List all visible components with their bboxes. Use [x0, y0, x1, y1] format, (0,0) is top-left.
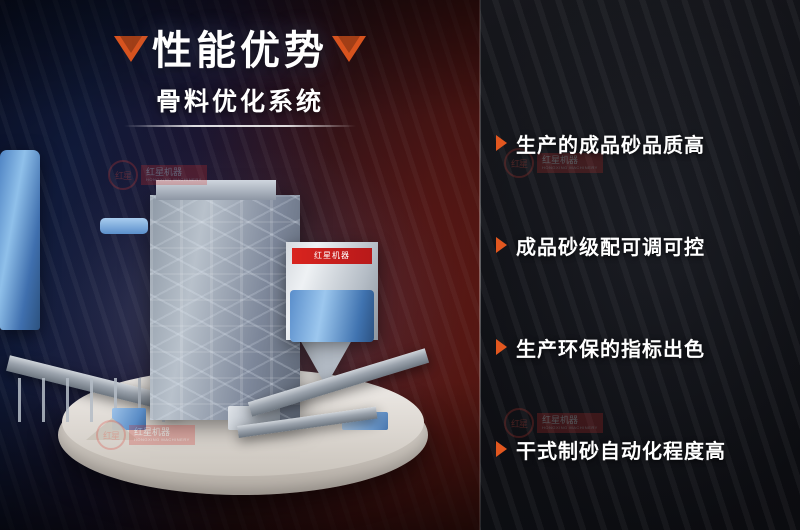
page-title: 性能优势: [152, 30, 328, 72]
subtitle-underline: [124, 125, 356, 127]
tower-cross-bracing: [150, 195, 300, 420]
feature-label: 干式制砂自动化程度高: [516, 435, 726, 464]
feature-label: 生产的成品砂品质高: [516, 129, 705, 158]
panel-divider: [479, 0, 481, 530]
left-image-panel: 红星机器 性能优势 骨料优化系统 红星: [0, 0, 480, 530]
feature-item-1: 生产的成品砂品质高: [480, 92, 800, 194]
feature-label: 生产环保的指标出色: [516, 333, 705, 362]
silo-cap: [100, 218, 148, 234]
subtitle-wrap: 骨料优化系统: [124, 82, 356, 127]
blue-drum-unit: [290, 290, 374, 342]
blue-silo: [0, 150, 40, 330]
title-block: 性能优势 骨料优化系统: [0, 30, 480, 127]
right-feature-panel: 生产的成品砂品质高 成品砂级配可调可控 生产环保的指标出色 干式制砂自动化程度高…: [480, 0, 800, 530]
machine-brand-label: 红星机器: [292, 248, 372, 264]
arrow-right-icon: [496, 339, 507, 355]
machinery-illustration: 红星机器: [0, 150, 480, 530]
feature-label: 成品砂级配可调可控: [516, 231, 705, 260]
feature-item-3: 生产环保的指标出色: [480, 296, 800, 398]
arrow-right-icon: [496, 237, 507, 253]
feature-list: 生产的成品砂品质高 成品砂级配可调可控 生产环保的指标出色 干式制砂自动化程度高: [480, 92, 800, 500]
chevron-right-icon: [332, 36, 366, 62]
arrow-right-icon: [496, 441, 507, 457]
page-subtitle: 骨料优化系统: [124, 82, 356, 118]
feature-item-2: 成品砂级配可调可控: [480, 194, 800, 296]
arrow-right-icon: [496, 135, 507, 151]
poster-root: 红星机器 性能优势 骨料优化系统 红星: [0, 0, 800, 530]
main-title-row: 性能优势: [116, 30, 364, 72]
material-stockpile: [86, 418, 138, 440]
tower-top-deck: [156, 180, 276, 200]
feature-item-4: 干式制砂自动化程度高: [480, 398, 800, 500]
chevron-left-icon: [114, 36, 148, 62]
